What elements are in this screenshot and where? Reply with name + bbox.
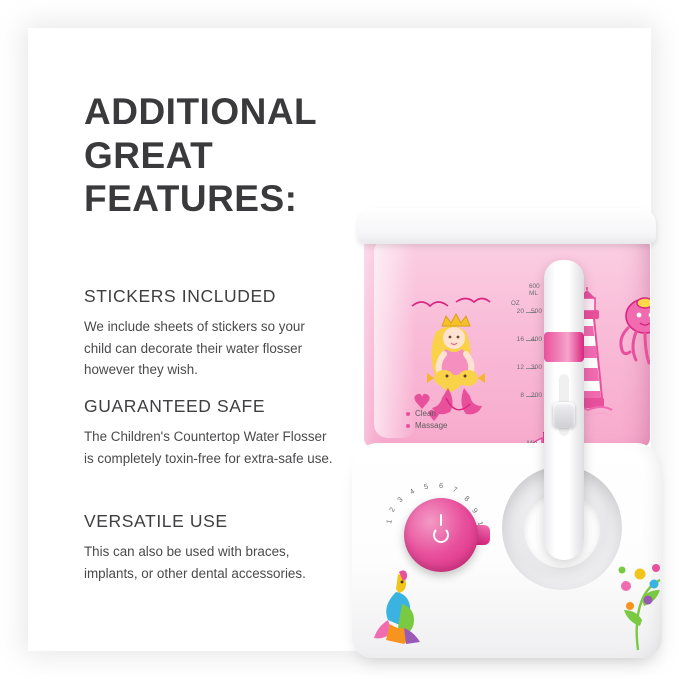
mode-massage: Massage xyxy=(406,420,447,432)
dial-number: 2 xyxy=(387,506,397,514)
feature-stickers-included: STICKERS INCLUDED We include sheets of s… xyxy=(84,286,336,381)
feature-versatile-use: VERSATILE USE This can also be used with… xyxy=(84,511,336,584)
dial-number: 4 xyxy=(408,487,416,497)
pressure-dial-knob[interactable] xyxy=(404,498,478,572)
image-frame: ADDITIONAL GREAT FEATURES: STICKERS INCL… xyxy=(28,28,651,651)
dial-number: 1 xyxy=(384,519,394,525)
tank-lid xyxy=(358,208,656,244)
dial-number: 6 xyxy=(439,481,444,490)
product-photo: 600 ML OZ 20 500 16 400 xyxy=(328,198,679,679)
dial-number: 8 xyxy=(463,494,472,504)
mode-clean: Clean xyxy=(406,408,447,420)
feature-title: VERSATILE USE xyxy=(84,511,336,532)
handle-power-slider[interactable] xyxy=(553,402,575,428)
feature-title: STICKERS INCLUDED xyxy=(84,286,336,307)
feature-body: This can also be used with braces, impla… xyxy=(84,541,336,584)
tank-unit-top: 600 ML xyxy=(529,283,540,297)
dial-number: 5 xyxy=(423,482,429,492)
feature-guaranteed-safe: GUARANTEED SAFE The Children's Counterto… xyxy=(84,396,336,469)
mode-indicator: Clean Massage xyxy=(406,408,447,433)
feature-body: We include sheets of stickers so your ch… xyxy=(84,316,336,381)
tank-unit-oz: OZ xyxy=(511,300,520,307)
product-feature-image: ADDITIONAL GREAT FEATURES: STICKERS INCL… xyxy=(0,0,679,679)
feature-title: GUARANTEED SAFE xyxy=(84,396,336,417)
headline-line-2: GREAT xyxy=(84,134,404,178)
kangaroo-sticker xyxy=(368,568,428,646)
dial-number: 3 xyxy=(395,495,404,504)
octopus-sticker xyxy=(616,294,650,370)
flower-sticker xyxy=(604,556,666,652)
headline-line-1: ADDITIONAL xyxy=(84,90,404,134)
handle-accent-band xyxy=(544,332,584,362)
image-canvas: ADDITIONAL GREAT FEATURES: STICKERS INCL… xyxy=(28,28,651,651)
feature-body: The Children's Countertop Water Flosser … xyxy=(84,426,336,469)
mode-dot-icon xyxy=(406,412,410,416)
mermaid-sticker xyxy=(408,294,504,424)
dial-number: 7 xyxy=(451,485,458,495)
mode-dot-icon xyxy=(406,424,410,428)
